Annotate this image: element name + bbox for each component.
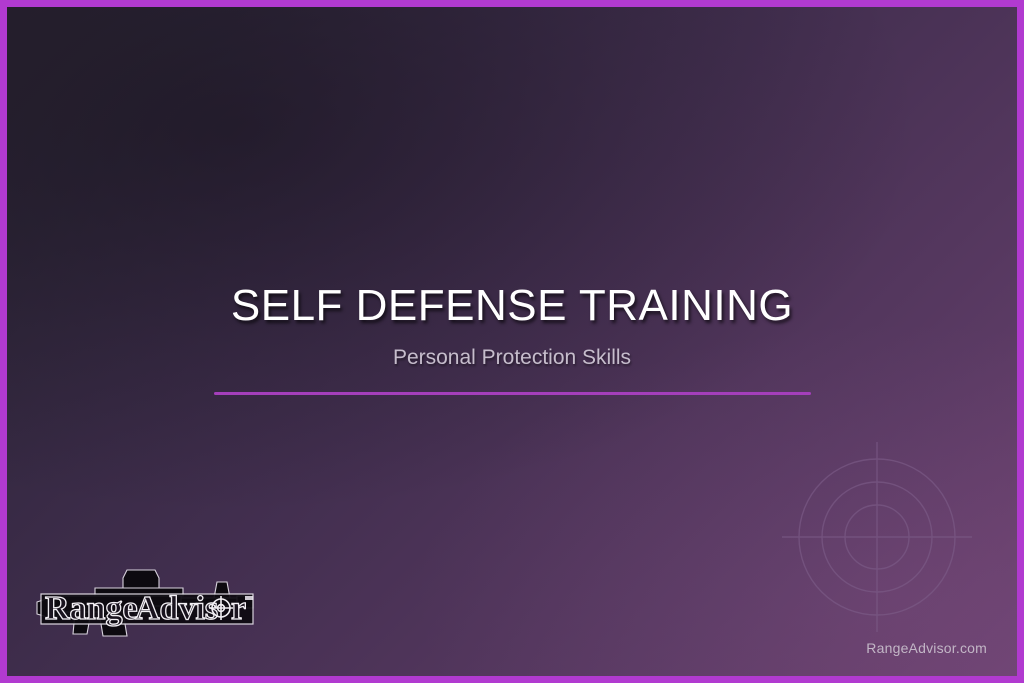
- divider-rule: [214, 392, 811, 395]
- brand-wordmark-range: Range: [45, 590, 138, 627]
- crosshair-target-icon: [780, 440, 974, 634]
- title-block: SELF DEFENSE TRAINING Personal Protectio…: [7, 283, 1017, 395]
- brand-logo: Range Advis r: [31, 558, 263, 644]
- brand-wordmark-advis: Advis: [135, 590, 218, 627]
- brand-wordmark: Range Advis r: [41, 590, 253, 627]
- site-watermark: RangeAdvisor.com: [866, 640, 987, 656]
- page-title: SELF DEFENSE TRAINING: [7, 283, 1017, 329]
- page-subtitle: Personal Protection Skills: [7, 346, 1017, 370]
- slide-frame-border: SELF DEFENSE TRAINING Personal Protectio…: [0, 0, 1024, 683]
- brand-wordmark-r: r: [231, 590, 246, 627]
- slide-canvas: SELF DEFENSE TRAINING Personal Protectio…: [7, 7, 1017, 676]
- brand-tm-mark: [245, 596, 253, 600]
